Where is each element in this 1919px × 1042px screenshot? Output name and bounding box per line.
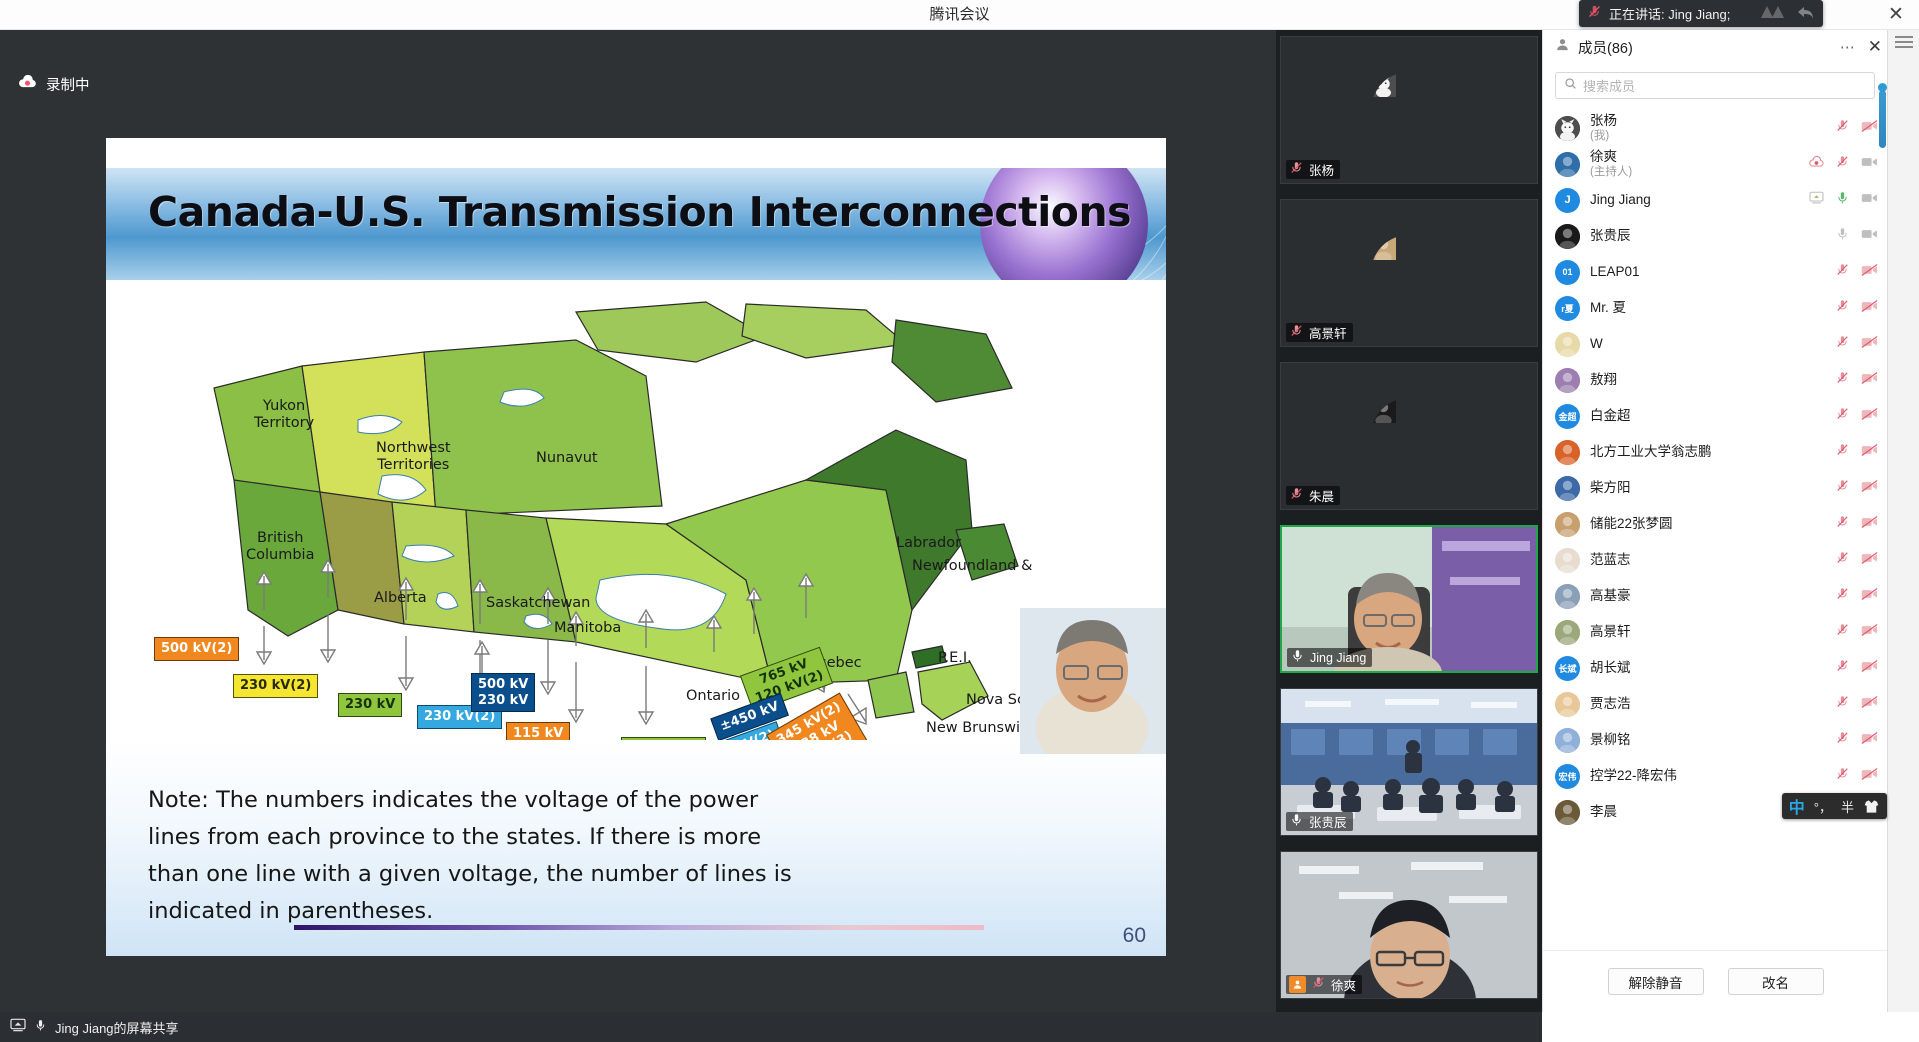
- camera-off-icon[interactable]: [1861, 263, 1878, 282]
- shirt-icon[interactable]: [1863, 799, 1880, 814]
- participant-name: Mr. 夏: [1590, 300, 1626, 316]
- participant-row[interactable]: 宏伟控学22-降宏伟: [1543, 758, 1888, 794]
- avatar: [1555, 476, 1580, 501]
- participant-name: W: [1590, 336, 1603, 352]
- participant-status-icons: [1835, 262, 1878, 282]
- thumbnail-nameplate: 高景轩: [1286, 323, 1353, 342]
- video-thumbnail[interactable]: 朱晨: [1280, 362, 1538, 510]
- camera-off-icon[interactable]: [1861, 731, 1878, 750]
- thumbnail-name: 徐爽: [1331, 975, 1356, 994]
- speaker-wave-icon: [1759, 4, 1789, 27]
- people-icon: [1555, 37, 1570, 57]
- participant-row[interactable]: 高景轩: [1543, 614, 1888, 650]
- participant-status-icons: [1835, 550, 1878, 570]
- mic-icon[interactable]: [1835, 190, 1850, 210]
- participant-status-icons: [1835, 514, 1878, 534]
- province-label: Alberta: [374, 590, 427, 607]
- close-icon[interactable]: ✕: [1868, 37, 1882, 57]
- participant-status-icons: [1835, 370, 1878, 390]
- speaker-banner-text: 正在讲话: Jing Jiang;: [1609, 4, 1730, 23]
- ime-indicator[interactable]: 中 °， 半: [1782, 793, 1887, 819]
- province-label: Northwest Territories: [376, 440, 451, 474]
- camera-off-icon[interactable]: [1861, 443, 1878, 462]
- more-dots-icon[interactable]: ⋯: [1840, 38, 1856, 56]
- map-graphic: [106, 280, 1166, 740]
- ime-mode-label[interactable]: 中: [1789, 794, 1805, 818]
- avatar: [1555, 548, 1580, 573]
- camera-off-icon[interactable]: [1861, 479, 1878, 498]
- participant-name: 李晨: [1590, 804, 1617, 820]
- participant-status-icons: [1835, 406, 1878, 426]
- active-speaker-banner: 正在讲话: Jing Jiang;: [1579, 0, 1823, 27]
- camera-off-icon[interactable]: [1861, 299, 1878, 318]
- province-label: Labrador: [896, 535, 961, 552]
- province-label: British Columbia: [246, 530, 314, 564]
- participant-row[interactable]: 柴方阳: [1543, 470, 1888, 506]
- participant-status-icons: [1835, 766, 1878, 786]
- hamburger-menu-icon[interactable]: [1895, 36, 1913, 50]
- slide-page-number: 60: [1123, 924, 1146, 948]
- participant-name: 北方工业大学翁志鹏: [1590, 444, 1712, 460]
- host-badge-icon: [1289, 976, 1306, 993]
- participant-row[interactable]: 01LEAP01: [1543, 254, 1888, 290]
- participant-role: (我): [1590, 129, 1617, 143]
- mic-muted-icon[interactable]: [1835, 730, 1850, 750]
- thumbnail-nameplate: 张杨: [1286, 160, 1340, 179]
- recording-label: 录制中: [46, 74, 90, 95]
- participant-search[interactable]: 搜索成员: [1555, 72, 1875, 99]
- thumbnail-nameplate: Jing Jiang: [1287, 648, 1372, 667]
- participant-name: 储能22张梦圆: [1590, 516, 1673, 532]
- participant-name: 景柳铭: [1590, 732, 1631, 748]
- slide-note-area: Note: The numbers indicates the voltage …: [106, 740, 1166, 956]
- camera-off-icon[interactable]: [1861, 335, 1878, 354]
- voltage-tag: 115 kV: [506, 722, 570, 740]
- participant-row[interactable]: 长斌胡长斌: [1543, 650, 1888, 686]
- participant-status-icons: [1809, 154, 1878, 174]
- avatar: [1555, 728, 1580, 753]
- video-thumbnail[interactable]: Jing Jiang: [1280, 525, 1538, 673]
- avatar: [1371, 398, 1447, 474]
- province-label: Ontario: [686, 688, 740, 705]
- right-rail: [1887, 30, 1919, 1012]
- province-label: Saskatchewan: [486, 595, 590, 612]
- participant-name: LEAP01: [1590, 264, 1640, 280]
- participants-panel-title: 成员(86): [1578, 37, 1633, 58]
- camera-off-icon[interactable]: [1861, 551, 1878, 570]
- participant-status-icons: [1835, 118, 1878, 138]
- mic-muted-icon[interactable]: [1835, 118, 1850, 138]
- mic-muted-icon[interactable]: [1835, 154, 1850, 174]
- participant-row[interactable]: 高基豪: [1543, 578, 1888, 614]
- slide-title: Canada-U.S. Transmission Interconnection…: [148, 188, 1131, 236]
- voltage-tag: 230 kV: [338, 693, 402, 717]
- participant-status-icons: [1835, 478, 1878, 498]
- participant-row[interactable]: 贾志浩: [1543, 686, 1888, 722]
- unmute-button[interactable]: 解除静音: [1608, 968, 1704, 995]
- thumbnail-name: 高景轩: [1309, 323, 1347, 342]
- participants-footer: 解除静音 改名: [1543, 950, 1888, 1012]
- avatar: 金超: [1555, 404, 1580, 429]
- mic-muted-icon[interactable]: [1835, 694, 1850, 714]
- participant-name: 敖翔: [1590, 372, 1617, 388]
- avatar: r夏: [1555, 296, 1580, 321]
- participant-role: (主持人): [1590, 165, 1632, 179]
- thumbnail-nameplate: 朱晨: [1286, 486, 1340, 505]
- avatar: [1555, 440, 1580, 465]
- camera-off-icon[interactable]: [1861, 407, 1878, 426]
- participant-row[interactable]: 徐爽(主持人): [1543, 146, 1888, 182]
- mic-muted-icon[interactable]: [1835, 658, 1850, 678]
- camera-icon[interactable]: [1861, 227, 1878, 246]
- mic-muted-icon[interactable]: [1835, 442, 1850, 462]
- participant-status-icons: [1809, 190, 1878, 210]
- thumbnail-nameplate: 徐爽: [1286, 975, 1362, 994]
- participant-name: 高景轩: [1590, 624, 1631, 640]
- mic-icon: [34, 1018, 47, 1037]
- avatar: [1555, 800, 1580, 825]
- canada-map: Yukon TerritoryNorthwest TerritoriesNuna…: [106, 280, 1166, 740]
- ime-width-label[interactable]: 半: [1841, 797, 1854, 816]
- mic-icon: [1289, 812, 1304, 832]
- screen-share-icon: [1809, 191, 1824, 209]
- tencent-meeting-window: 腾讯会议 ✕ 正在讲话: Jing Jiang;: [0, 0, 1919, 1042]
- thumbnail-name: 张贵辰: [1309, 812, 1347, 831]
- thumbnail-name: 朱晨: [1309, 486, 1334, 505]
- participant-name: 贾志浩: [1590, 696, 1631, 712]
- participant-name: Jing Jiang: [1590, 192, 1651, 208]
- mic-icon: [1290, 648, 1305, 668]
- voltage-tag: 230 kV(2): [233, 674, 318, 698]
- participant-status-icons: [1835, 586, 1878, 606]
- mic-icon[interactable]: [1835, 226, 1850, 246]
- presenter-camera-overlay: [1020, 608, 1166, 754]
- participant-row[interactable]: W: [1543, 326, 1888, 362]
- participant-row[interactable]: 储能22张梦圆: [1543, 506, 1888, 542]
- province-label: Newfoundland &: [912, 558, 1032, 575]
- avatar: [1555, 620, 1580, 645]
- video-thumbnail[interactable]: 张贵辰: [1280, 688, 1538, 836]
- participants-list[interactable]: 张杨(我) 徐爽(主持人) JJing Jiang 张贵辰 01LEAP01 r…: [1543, 110, 1888, 1004]
- reply-arrow-icon[interactable]: [1797, 5, 1815, 26]
- avatar: [1371, 72, 1447, 148]
- participant-row[interactable]: 张杨(我): [1543, 110, 1888, 146]
- participant-row[interactable]: 北方工业大学翁志鹏: [1543, 434, 1888, 470]
- search-placeholder: 搜索成员: [1583, 76, 1635, 95]
- participant-row[interactable]: 范蓝志: [1543, 542, 1888, 578]
- avatar: [1555, 152, 1580, 177]
- participant-status-icons: [1835, 334, 1878, 354]
- video-thumbnail-strip[interactable]: 张杨 高景轩 朱晨: [1276, 30, 1542, 1012]
- participant-status-icons: [1835, 298, 1878, 318]
- mic-muted-icon: [1289, 486, 1304, 506]
- participant-name: 胡长斌: [1590, 660, 1631, 676]
- camera-off-icon[interactable]: [1861, 767, 1878, 786]
- mic-muted-icon[interactable]: [1835, 586, 1850, 606]
- avatar: [1555, 332, 1580, 357]
- participant-name: 范蓝志: [1590, 552, 1631, 568]
- camera-off-icon[interactable]: [1861, 587, 1878, 606]
- participant-name: 控学22-降宏伟: [1590, 768, 1677, 784]
- thumbnail-name: 张杨: [1309, 160, 1334, 179]
- ime-punctuation-label[interactable]: °，: [1814, 797, 1832, 816]
- participant-row[interactable]: r夏Mr. 夏: [1543, 290, 1888, 326]
- mic-muted-icon[interactable]: [1835, 766, 1850, 786]
- camera-off-icon[interactable]: [1861, 695, 1878, 714]
- participant-name: 柴方阳: [1590, 480, 1631, 496]
- province-label: Yukon Territory: [254, 398, 314, 432]
- participant-name: 白金超: [1590, 408, 1631, 424]
- mic-muted-icon[interactable]: [1835, 550, 1850, 570]
- camera-off-icon[interactable]: [1861, 119, 1878, 138]
- avatar: 长斌: [1555, 656, 1580, 681]
- participant-status-icons: [1835, 226, 1878, 246]
- rename-button[interactable]: 改名: [1728, 968, 1824, 995]
- thumbnail-name: Jing Jiang: [1310, 651, 1366, 665]
- slide-header-band: Canada-U.S. Transmission Interconnection…: [106, 168, 1166, 280]
- mic-muted-icon[interactable]: [1835, 478, 1850, 498]
- participant-row[interactable]: 景柳铭: [1543, 722, 1888, 758]
- avatar: [1555, 692, 1580, 717]
- mic-muted-icon[interactable]: [1835, 514, 1850, 534]
- mic-muted-icon[interactable]: [1835, 262, 1850, 282]
- participant-name: 张贵辰: [1590, 228, 1631, 244]
- close-icon[interactable]: ✕: [1883, 3, 1909, 27]
- camera-off-icon[interactable]: [1861, 371, 1878, 390]
- participant-status-icons: [1835, 622, 1878, 642]
- camera-off-icon[interactable]: [1861, 515, 1878, 534]
- video-thumbnail[interactable]: 张杨: [1280, 36, 1538, 184]
- slide-divider-rule: [294, 925, 984, 930]
- avatar: 宏伟: [1555, 764, 1580, 789]
- participants-panel: 成员(86) ⋯ ✕ 搜索成员: [1542, 30, 1887, 1012]
- mic-muted-icon[interactable]: [1835, 334, 1850, 354]
- participant-status-icons: [1835, 442, 1878, 462]
- camera-off-icon[interactable]: [1861, 623, 1878, 642]
- mic-muted-icon: [1587, 4, 1602, 24]
- participant-row[interactable]: 金超白金超: [1543, 398, 1888, 434]
- mic-muted-icon[interactable]: [1835, 298, 1850, 318]
- avatar: [1555, 116, 1580, 141]
- avatar: [1555, 512, 1580, 537]
- province-label: P.E.I.: [938, 650, 972, 667]
- mic-muted-icon: [1289, 160, 1304, 180]
- mic-muted-icon: [1289, 323, 1304, 343]
- participant-status-icons: [1835, 658, 1878, 678]
- presentation-slide: Canada-U.S. Transmission Interconnection…: [106, 138, 1166, 956]
- video-thumbnail[interactable]: 徐爽: [1280, 851, 1538, 999]
- screen-share-status-text: Jing Jiang的屏幕共享: [55, 1018, 179, 1037]
- participant-status-icons: [1835, 694, 1878, 714]
- search-icon: [1564, 77, 1577, 95]
- participant-name: 徐爽: [1590, 149, 1632, 165]
- mic-muted-icon[interactable]: [1835, 622, 1850, 642]
- participants-panel-header: 成员(86) ⋯ ✕: [1543, 30, 1888, 64]
- camera-off-icon[interactable]: [1861, 659, 1878, 678]
- participant-status-icons: [1835, 730, 1878, 750]
- mic-muted-icon[interactable]: [1835, 370, 1850, 390]
- province-label: Nunavut: [536, 450, 598, 467]
- avatar: 01: [1555, 260, 1580, 285]
- participant-name: 张杨: [1590, 113, 1617, 129]
- voltage-tag: 500 kV 230 kV: [471, 673, 535, 712]
- mic-muted-icon[interactable]: [1835, 406, 1850, 426]
- thumbnail-nameplate: 张贵辰: [1286, 812, 1353, 831]
- cloud-record-icon: [18, 75, 37, 94]
- avatar: [1555, 224, 1580, 249]
- camera-icon[interactable]: [1861, 191, 1878, 210]
- screen-share-icon: [10, 1018, 26, 1037]
- video-thumbnail[interactable]: 高景轩: [1280, 199, 1538, 347]
- avatar: J: [1555, 188, 1580, 213]
- avatar: [1555, 584, 1580, 609]
- slide-note-text: Note: The numbers indicates the voltage …: [148, 782, 808, 930]
- recording-indicator: 录制中: [18, 74, 90, 95]
- participant-row[interactable]: 张贵辰: [1543, 218, 1888, 254]
- cloud-record-icon: [1809, 155, 1824, 173]
- province-label: Manitoba: [554, 620, 621, 637]
- camera-icon[interactable]: [1861, 155, 1878, 174]
- participant-name: 高基豪: [1590, 588, 1631, 604]
- participant-row[interactable]: 敖翔: [1543, 362, 1888, 398]
- mic-muted-icon: [1311, 975, 1326, 995]
- avatar: [1555, 368, 1580, 393]
- screen-share-statusbar: Jing Jiang的屏幕共享: [0, 1012, 1542, 1042]
- voltage-tag: 500 kV(2): [154, 637, 239, 661]
- participant-row[interactable]: JJing Jiang: [1543, 182, 1888, 218]
- avatar: [1371, 235, 1447, 311]
- shared-screen-stage[interactable]: 录制中 Canada-U.S. Transmission Interconnec…: [0, 30, 1276, 1012]
